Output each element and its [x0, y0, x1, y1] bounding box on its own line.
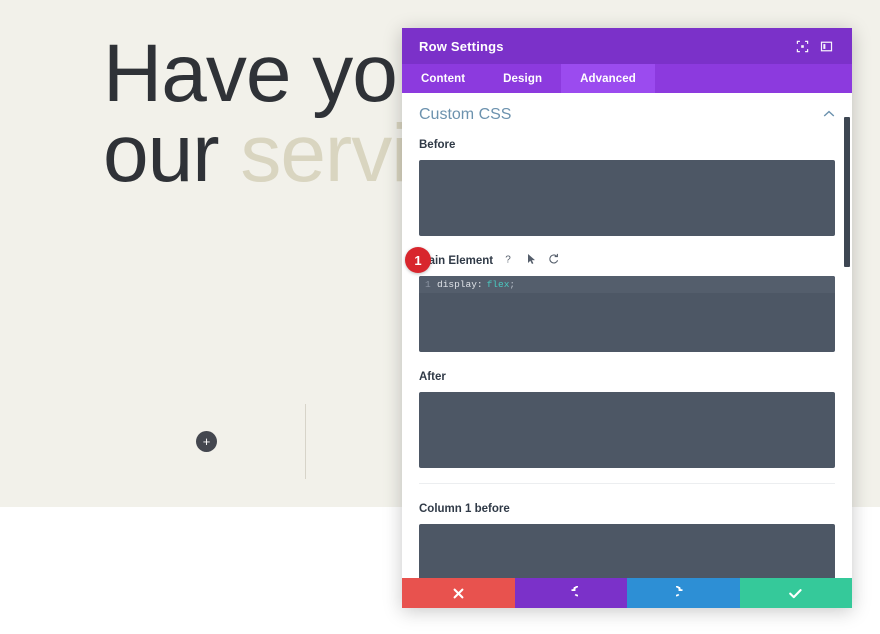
field-label-row: After [419, 366, 835, 387]
field-label-before: Before [419, 139, 455, 151]
section-title: Custom CSS [419, 106, 511, 124]
heading-line-2-plain: our [103, 108, 240, 199]
svg-text:?: ? [505, 255, 511, 266]
step-marker-1: 1 [405, 247, 431, 273]
custom-css-section-header[interactable]: Custom CSS [419, 93, 835, 134]
after-css-textarea[interactable] [419, 392, 835, 468]
field-before: Before [419, 134, 835, 236]
tab-content[interactable]: Content [402, 64, 484, 93]
add-module-button[interactable]: + [196, 431, 217, 452]
modal-scrollbar-thumb[interactable] [844, 117, 850, 267]
before-css-textarea[interactable] [419, 160, 835, 236]
reset-icon[interactable] [548, 253, 560, 268]
cancel-button[interactable] [402, 578, 515, 608]
code-terminator: ; [509, 279, 515, 290]
redo-button[interactable] [627, 578, 740, 608]
modal-tab-bar: Content Design Advanced [402, 64, 852, 93]
undo-button[interactable] [515, 578, 628, 608]
cursor-pointer-icon[interactable] [526, 253, 537, 268]
column1-before-css-textarea[interactable] [419, 524, 835, 578]
tab-design[interactable]: Design [484, 64, 561, 93]
fullscreen-icon[interactable] [790, 34, 814, 58]
tab-advanced[interactable]: Advanced [561, 64, 655, 93]
field-column1-before: Column 1 before [419, 498, 835, 578]
modal-body: Custom CSS Before Main Element ? [402, 93, 852, 578]
field-label-column1-before: Column 1 before [419, 503, 510, 515]
field-main-element: Main Element ? [419, 250, 835, 352]
code-property: display: [437, 279, 483, 290]
field-label-row: Column 1 before [419, 498, 835, 519]
field-label-row: Main Element ? [419, 250, 835, 271]
field-after: After [419, 366, 835, 468]
save-button[interactable] [740, 578, 853, 608]
modal-titlebar: Row Settings [402, 28, 852, 64]
row-settings-modal: Row Settings Content Design Advanced Cus… [402, 28, 852, 608]
code-line[interactable]: 1 display: flex ; [419, 276, 835, 293]
code-value: flex [487, 279, 510, 290]
plus-icon: + [203, 435, 211, 448]
field-divider [419, 483, 835, 484]
field-label-after: After [419, 371, 446, 383]
modal-title: Row Settings [419, 39, 790, 54]
code-line-number: 1 [425, 279, 437, 290]
chevron-up-icon[interactable] [823, 110, 835, 121]
help-icon[interactable]: ? [504, 253, 515, 268]
main-element-code-editor[interactable]: 1 display: flex ; [419, 276, 835, 352]
layout-panel-icon[interactable] [814, 34, 838, 58]
modal-scrollbar-track[interactable] [843, 93, 852, 578]
column-divider [305, 404, 306, 479]
modal-footer [402, 578, 852, 608]
field-label-row: Before [419, 134, 835, 155]
